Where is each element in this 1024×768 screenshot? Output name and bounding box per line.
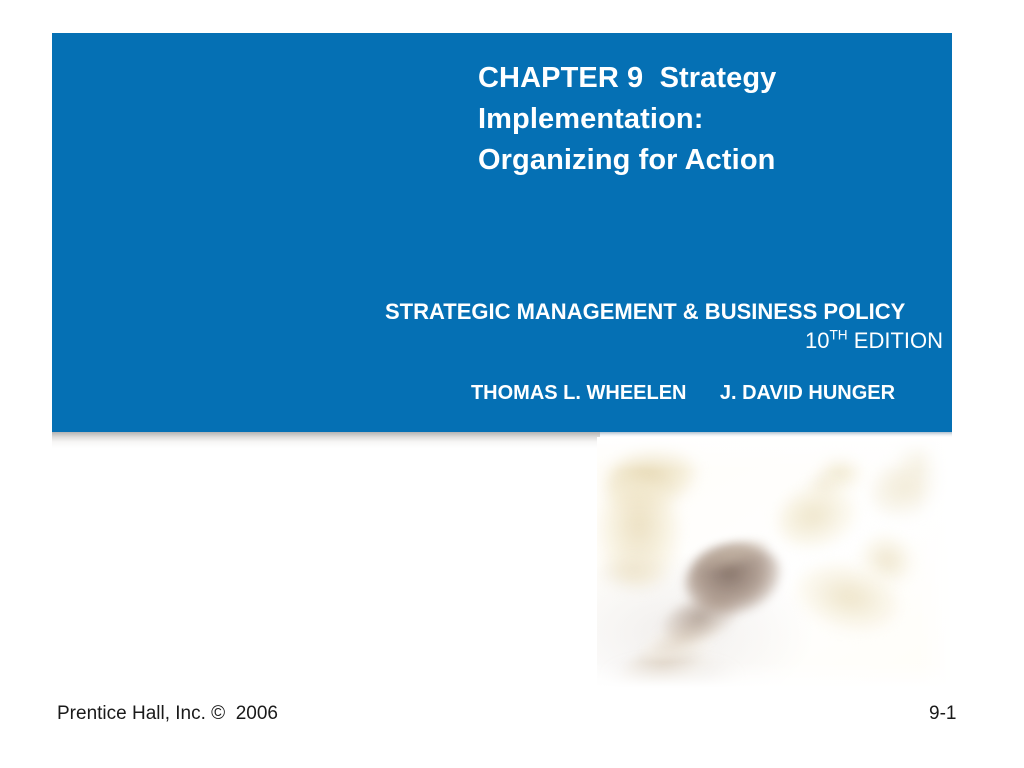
book-information-block: STRATEGIC MANAGEMENT & BUSINESS POLICY 1…	[385, 298, 945, 406]
chess-pieces-photo	[597, 437, 952, 688]
book-series-title: STRATEGIC MANAGEMENT & BUSINESS POLICY	[385, 298, 945, 326]
photo-fade-bottom	[597, 662, 952, 688]
chapter-title: CHAPTER 9 Strategy Implementation: Organ…	[478, 58, 908, 181]
presentation-slide: CHAPTER 9 Strategy Implementation: Organ…	[0, 0, 1024, 768]
footer-copyright: Prentice Hall, Inc. © 2006	[57, 703, 278, 725]
chapter-title-line-3: Organizing for Action	[478, 140, 908, 181]
book-edition-ordinal: TH	[829, 328, 847, 343]
book-edition: 10TH EDITION	[385, 326, 945, 356]
photo-fade-right	[918, 437, 952, 688]
footer-page-number: 9-1	[929, 703, 989, 725]
chapter-title-line-2: Implementation:	[478, 99, 908, 140]
chess-piece-knight-base	[597, 555, 667, 589]
book-authors: THOMAS L. WHEELEN J. DAVID HUNGER	[385, 380, 945, 406]
banner-drop-shadow	[52, 432, 600, 448]
photo-fade-top	[597, 437, 952, 471]
chapter-title-line-1: CHAPTER 9 Strategy	[478, 58, 908, 99]
book-edition-number: 10	[805, 328, 829, 353]
book-edition-word: EDITION	[848, 328, 943, 353]
